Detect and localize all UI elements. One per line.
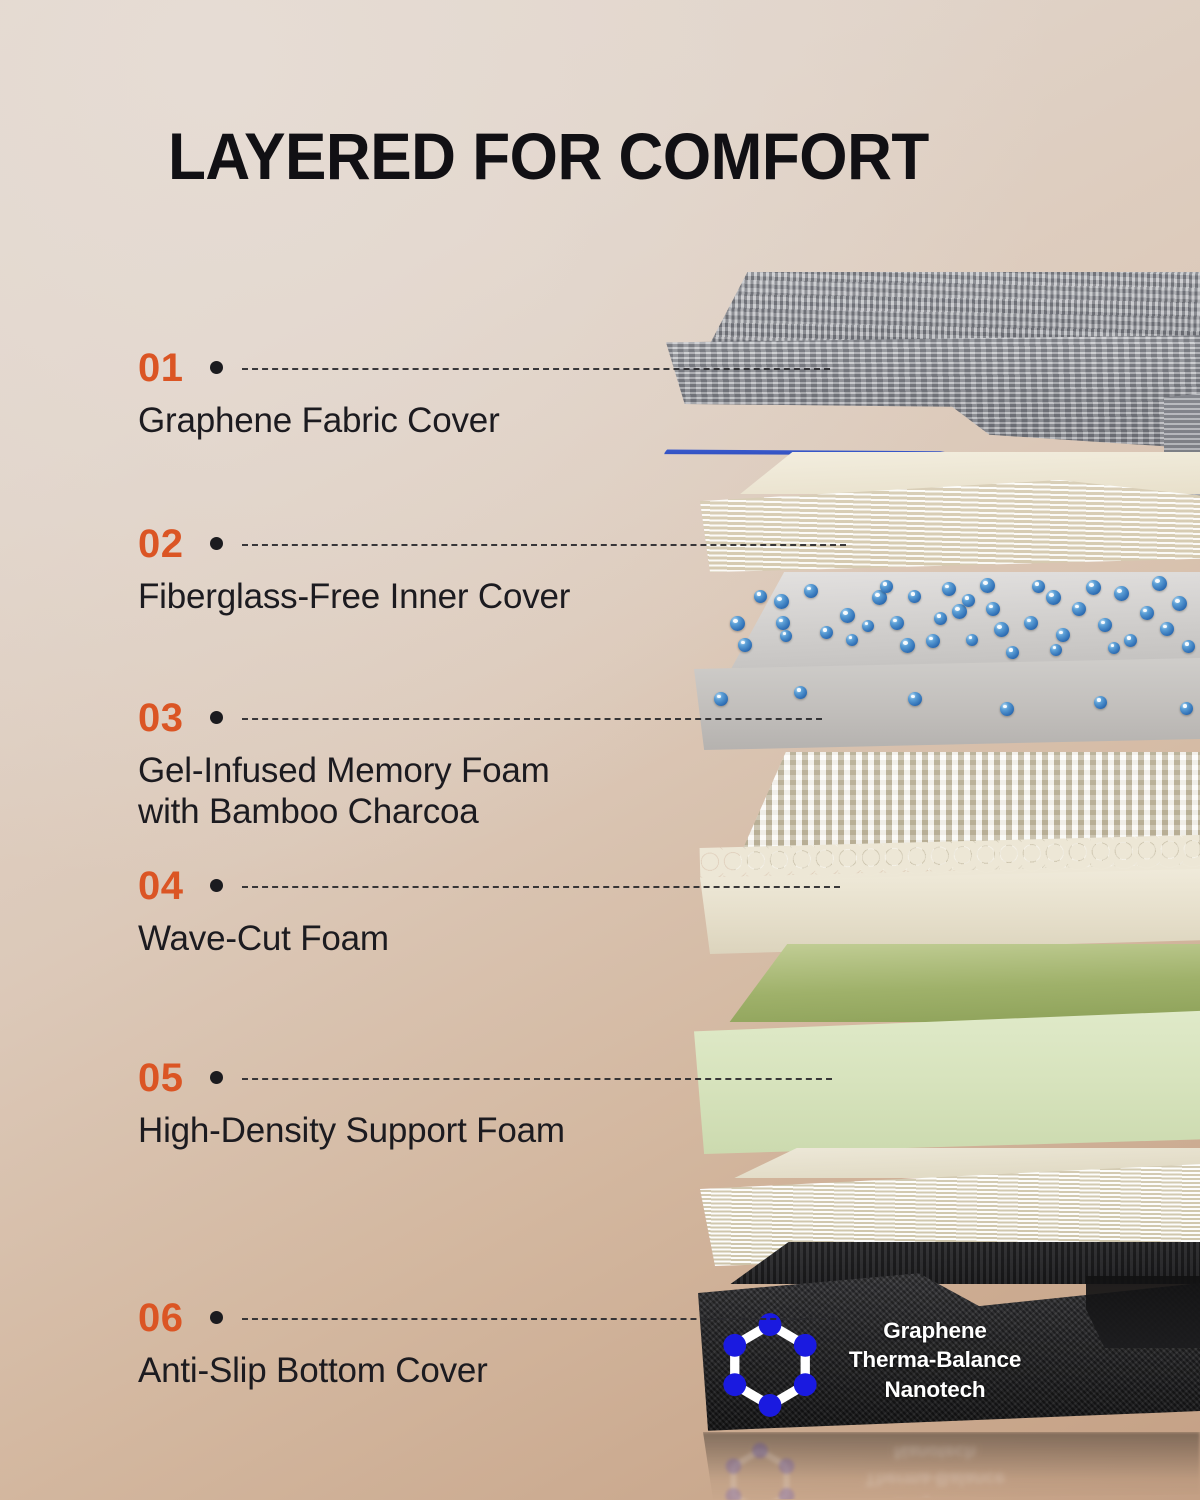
layer-top-surface (694, 272, 1200, 346)
callout-dot (210, 711, 223, 724)
gel-bead (942, 582, 956, 596)
gel-bead (1086, 580, 1101, 595)
gel-bead (1050, 644, 1062, 656)
graphene-badge-text: Graphene Therma-Balance Nanotech (816, 1316, 1054, 1404)
callout-leader-line (242, 886, 840, 888)
layer-front-face (694, 1008, 1200, 1154)
gel-bead (1072, 602, 1086, 616)
callout-label: Gel-Infused Memory Foam with Bamboo Char… (138, 750, 550, 833)
callout-06[interactable]: 06 Anti-Slip Bottom Cover (138, 1298, 488, 1391)
gel-bead (980, 578, 995, 593)
mattress-layer-gel-memory-foam (694, 572, 1200, 754)
graphene-hexagon-icon (718, 1308, 822, 1422)
callout-number: 02 (138, 524, 184, 564)
callout-number: 04 (138, 866, 184, 906)
gel-bead (1124, 634, 1137, 647)
mattress-layer-inner-cover (700, 452, 1200, 578)
gel-bead (1108, 642, 1120, 654)
gel-bead (754, 590, 767, 603)
callout-dot (210, 879, 223, 892)
gel-bead (986, 602, 1000, 616)
callout-label: Anti-Slip Bottom Cover (138, 1350, 488, 1391)
gel-bead-face (1000, 702, 1014, 716)
gel-bead (840, 608, 855, 623)
gel-bead (804, 584, 818, 598)
callout-leader-line (242, 718, 822, 720)
gel-bead (780, 630, 792, 642)
callout-number: 03 (138, 698, 184, 738)
callout-03[interactable]: 03 Gel-Infused Memory Foam with Bamboo C… (138, 698, 550, 833)
gel-bead (1098, 618, 1112, 632)
gel-bead (1032, 580, 1045, 593)
gel-bead (890, 616, 904, 630)
gel-bead (1024, 616, 1038, 630)
gel-bead (1140, 606, 1154, 620)
gel-bead (730, 616, 745, 631)
gel-bead-face (908, 692, 922, 706)
reflection-badge-text: Graphene Therma-Balance Nanotech (816, 1438, 1054, 1500)
callout-number: 05 (138, 1058, 184, 1098)
gel-bead (774, 594, 789, 609)
layer-front-face (700, 480, 1200, 576)
gel-bead (880, 580, 893, 593)
callout-label: High-Density Support Foam (138, 1110, 565, 1151)
gel-bead (1160, 622, 1174, 636)
callout-leader-line (242, 1078, 832, 1080)
mattress-layer-wave-cut-foam (700, 752, 1200, 952)
gel-bead (934, 612, 947, 625)
callout-05[interactable]: 05 High-Density Support Foam (138, 1058, 565, 1151)
gel-bead (820, 626, 833, 639)
gel-bead (738, 638, 752, 652)
callout-dot (210, 1311, 223, 1324)
layer-top-surface (720, 944, 1200, 1022)
callout-dot (210, 361, 223, 374)
callout-01[interactable]: 01 Graphene Fabric Cover (138, 348, 500, 441)
callout-04[interactable]: 04 Wave-Cut Foam (138, 866, 389, 959)
gel-bead-face (714, 692, 728, 706)
gel-bead (846, 634, 858, 646)
gel-bead (962, 594, 975, 607)
gel-bead (1056, 628, 1070, 642)
infographic-canvas: LAYERED FOR COMFORT (0, 0, 1200, 1500)
callout-02[interactable]: 02 Fiberglass-Free Inner Cover (138, 524, 570, 617)
floor-reflection: Graphene Therma-Balance Nanotech (698, 1432, 1200, 1500)
callout-dot (210, 537, 223, 550)
callout-dot (210, 1071, 223, 1084)
gel-bead (1006, 646, 1019, 659)
callout-leader-line (242, 368, 830, 370)
gel-bead (862, 620, 874, 632)
gel-bead (908, 590, 921, 603)
gel-bead-face (1094, 696, 1107, 709)
gel-bead (926, 634, 940, 648)
gel-bead-face (1180, 702, 1193, 715)
callout-label: Graphene Fabric Cover (138, 400, 500, 441)
layer-front-face (694, 658, 1200, 750)
gel-bead (1182, 640, 1195, 653)
callout-leader-line (242, 1318, 836, 1320)
mattress-layer-support-foam (694, 944, 1200, 1156)
callout-label: Wave-Cut Foam (138, 918, 389, 959)
callout-leader-line (242, 544, 846, 546)
reflection-hexagon-icon (718, 1438, 802, 1500)
callout-number: 01 (138, 348, 184, 388)
gel-bead (1114, 586, 1129, 601)
gel-bead (994, 622, 1009, 637)
layer-corner-shadow (1086, 1276, 1200, 1348)
callout-label: Fiberglass-Free Inner Cover (138, 576, 570, 617)
gel-bead (1046, 590, 1061, 605)
gel-bead (1172, 596, 1187, 611)
gel-bead (1152, 576, 1167, 591)
callout-number: 06 (138, 1298, 184, 1338)
gel-bead (900, 638, 915, 653)
gel-bead (776, 616, 790, 630)
layer-top-surface (722, 572, 1200, 668)
gel-bead-face (794, 686, 807, 699)
gel-bead (966, 634, 978, 646)
